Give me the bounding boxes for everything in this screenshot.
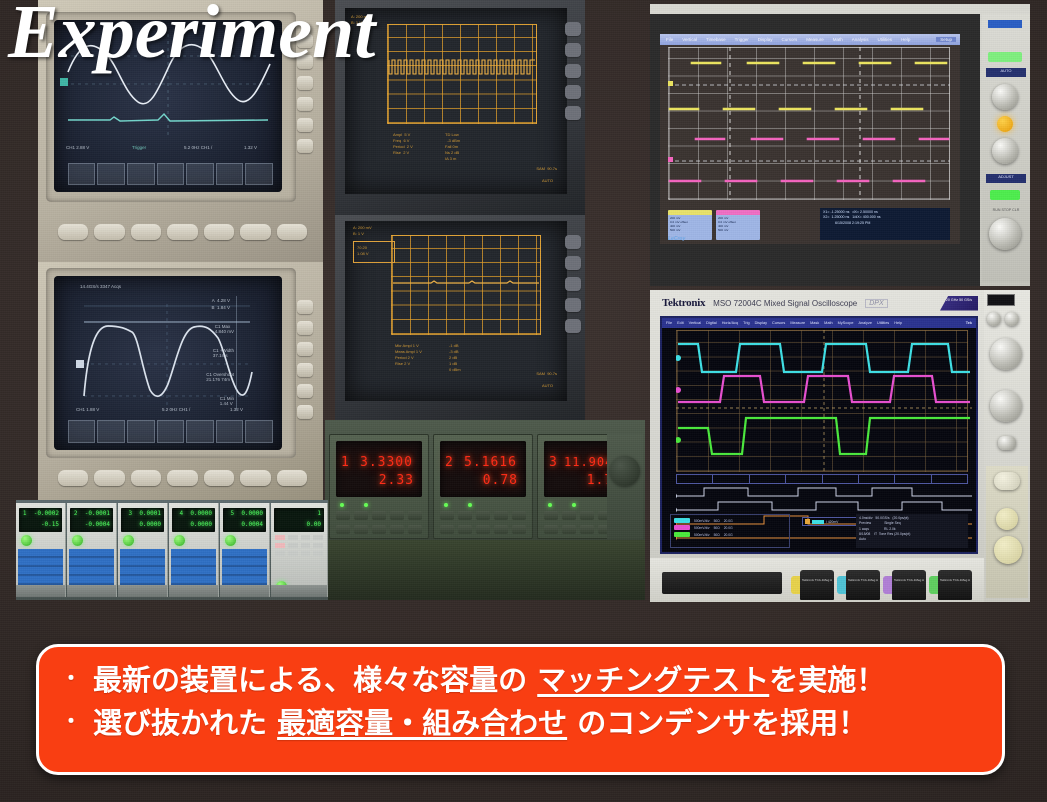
led-display: 3 0.0001 0.0000 [121, 508, 164, 532]
trigger-indicator: / 420mV [802, 517, 862, 526]
rotary-knob[interactable] [123, 535, 134, 546]
psu-line-1: 4 0.0000 [172, 508, 215, 519]
psu-value: 0.0001 [139, 510, 161, 517]
probe-label: Tektronix TCA-1Meg A [894, 578, 924, 582]
scope-side-buttons[interactable] [297, 300, 313, 419]
channel-color-chip [674, 525, 690, 530]
menu-item[interactable]: Mask [810, 321, 819, 325]
probe-color-tab [929, 576, 938, 594]
scope-soft-menu[interactable] [68, 420, 273, 443]
scope-side-menu[interactable] [236, 296, 278, 410]
crt-status-right: SAM 90.7s [536, 371, 557, 377]
menu-item[interactable]: Display [755, 321, 767, 325]
scope-front-panel[interactable] [984, 290, 1030, 602]
menu-item[interactable]: Digital [706, 321, 717, 325]
psu-status-led [468, 503, 472, 507]
psu-line-1: 1 -0.0002 [19, 508, 62, 519]
psu-value: 0.0000 [241, 510, 263, 517]
panel-lower-section[interactable] [986, 466, 1028, 598]
measurement-row: 500mV/div 50Ω 20.0G [674, 532, 786, 537]
menu-item[interactable]: Measure [806, 37, 824, 42]
menu-item[interactable]: Display [758, 37, 773, 42]
digital-bus-row [676, 474, 968, 484]
menu-item[interactable]: Trig [743, 321, 749, 325]
psu-voltage: 5.1616 [464, 455, 517, 470]
psu-terminal-strip[interactable] [67, 585, 116, 597]
psu-channel: 3 [549, 455, 558, 470]
multipurpose-knob-a[interactable] [996, 508, 1018, 530]
multipurpose-knob-b[interactable] [994, 536, 1022, 564]
scope-menubar[interactable]: File Edit Vertical Digital Horiz/Acq Tri… [662, 318, 976, 328]
psu-channel: 2 [74, 510, 78, 517]
measurement-extra: 20.0G [724, 526, 733, 530]
brand-logo: Tektronix [662, 297, 705, 309]
model-label: MSO 72004C Mixed Signal Oscilloscope [713, 299, 857, 308]
menu-item[interactable]: Utilities [878, 37, 893, 42]
measurement-value: 50Ω [714, 533, 720, 537]
psu-status-led [548, 503, 552, 507]
crt-status-right: SAM 90.7s [536, 166, 557, 172]
psu-channel: 5 [230, 510, 234, 517]
bullet-icon: ・ [61, 711, 81, 731]
rotary-knob[interactable] [610, 456, 640, 486]
trigger-level-text: / 420mV [826, 520, 838, 524]
psu-status-led [444, 503, 448, 507]
psu-lower-chassis [325, 540, 645, 600]
caption-line-1: ・ 最新の装置による、様々な容量の マッチングテストを実施！ [61, 659, 980, 702]
menu-item[interactable]: Help [901, 37, 910, 42]
psu-module[interactable]: 3 0.0001 0.0000 [118, 503, 168, 597]
scope-readout-left: CH1 2.88 V [66, 145, 89, 150]
menu-item[interactable]: Analyze [858, 321, 872, 325]
menu-item[interactable]: Help [894, 321, 902, 325]
crt-stats-right: TD Low -3 dBm Fall 0m Ns 2 dB IA 3 m [445, 132, 460, 162]
scope-soft-buttons[interactable] [58, 470, 307, 486]
rotary-knob[interactable] [992, 138, 1018, 164]
probe-label: Tektronix TCA-1Meg A [940, 578, 970, 582]
waveform-trace [391, 235, 541, 335]
channel-badge-2[interactable]: 200 mV 0.0 mV offset 400 mV 500 mV [716, 210, 760, 240]
autoset-button[interactable] [998, 436, 1016, 450]
scope-front-panel[interactable]: AUTO ADJUST RUN STOP CLR [982, 14, 1030, 282]
probe-color-tab [837, 576, 846, 594]
psu-status-led [364, 503, 368, 507]
slide-root: Experiment CH1 2.88 V Trigger 5.2 0Hz CH… [0, 0, 1047, 802]
psu-value: 0.0000 [190, 510, 212, 517]
panel-lcd [987, 294, 1015, 306]
psu-module[interactable]: 1 -0.0002 -0.15 [16, 503, 66, 597]
psu-button-row[interactable] [336, 525, 422, 534]
psu-line-2: -0.0004 [70, 519, 113, 530]
menu-item[interactable]: Cursors [781, 37, 797, 42]
photo-tektronix-oscilloscope: Tektronix MSO 72004C Mixed Signal Oscill… [650, 290, 1030, 602]
scope-screen: File Edit Vertical Digital Horiz/Acq Tri… [660, 316, 978, 554]
crt-screen: 14.4GS/s 3347 Acqs A 4.28 V B 1.84 V C1 … [54, 276, 282, 450]
scope-header: 14.4GS/s 3347 Acqs [80, 284, 121, 289]
psu-current: 0.78 [483, 473, 518, 488]
psu-channel: 4 [179, 510, 183, 517]
psu-terminal-strip[interactable] [118, 585, 167, 597]
tek-menu-logo[interactable]: Tek [966, 321, 972, 325]
psu-button-row[interactable] [336, 511, 422, 520]
led-display: 2 -0.0001 -0.0004 [70, 508, 113, 532]
psu-channel: 1 [23, 510, 27, 517]
scope-readout-trigger: Trigger [132, 145, 146, 150]
psu-unit[interactable]: 1 3.3300 2.33 [329, 434, 429, 539]
psu-status-led [572, 503, 576, 507]
crt-info-box: 70.20 1.08 V [353, 241, 395, 263]
led-display: 4 0.0000 0.0000 [172, 508, 215, 532]
cursor-readout: X1= -1.25000 ns dX= 2.50000 ns X2= 1.250… [820, 208, 950, 240]
psu-channel: 1 [317, 510, 321, 517]
trigger-led-button[interactable] [997, 116, 1013, 132]
measurement-value: 50Ω [714, 526, 720, 530]
menu-item[interactable]: Vertical [689, 321, 701, 325]
psu-module[interactable]: 4 0.0000 0.0000 [169, 503, 219, 597]
scope-soft-buttons[interactable] [58, 224, 307, 240]
photo-amber-crt-flat-trace: 70.20 1.08 V A: 200 mV B: 1 V Mkr Ampl 1… [335, 215, 585, 425]
channel-badge-text: 200 mV 0.0 mV offset 400 mV 500 mV [668, 215, 712, 233]
probe-label: Tektronix TCA-1Meg A [802, 578, 832, 582]
crt-stats-right: -1 dB -3 dB 2 dB 1 dB 0 dBm [449, 343, 461, 373]
menu-item[interactable]: Timebase [706, 37, 726, 42]
psu-keypad[interactable] [275, 535, 323, 579]
analog-waveform-traces [676, 330, 972, 472]
probe-2[interactable]: Tektronix TCA-1Meg A [846, 570, 880, 600]
caption-pre: 選び抜かれた [93, 706, 277, 740]
psu-line-2: 0.00 [274, 519, 324, 530]
menu-item[interactable]: MyScope [838, 321, 854, 325]
led-display: 2 5.1616 0.78 [440, 441, 526, 497]
bullet-icon: ・ [61, 668, 81, 688]
caption-box: ・ 最新の装置による、様々な容量の マッチングテストを実施！ ・ 選び抜かれた … [36, 644, 1005, 775]
scope-cursor-b: B 1.84 V [211, 305, 230, 310]
psu-terminal-strip[interactable] [169, 585, 218, 597]
led-display: 5 0.0000 0.0004 [223, 508, 266, 532]
measurement-extra: 20.0G [724, 533, 733, 537]
brand-logo: LeCroy [668, 236, 685, 242]
multipurpose-knob[interactable] [989, 218, 1021, 250]
psu-value: -0.0002 [34, 510, 59, 517]
photo-modular-power-supply-green-led: 1 -0.0002 -0.15 2 -0.0001 -0.0004 3 0.00… [16, 500, 328, 600]
probe-4[interactable]: Tektronix TCA-1Meg A [938, 570, 972, 600]
acquisition-status: 4.0ns/div 50.0GS/s (20.0ps/pt) Preview S… [856, 514, 968, 548]
menu-item[interactable]: Utilities [877, 321, 889, 325]
caption-line-2-text: 選び抜かれた 最適容量・組み合わせ のコンデンサを採用！ [93, 702, 867, 745]
psu-vent-panel [222, 549, 267, 585]
photo-dc-power-supply-red-led: 1 3.3300 2.33 2 5.1616 0.78 3 11.9040 [325, 420, 645, 600]
crt-screen: 70.20 1.08 V A: 200 mV B: 1 V Mkr Ampl 1… [345, 221, 567, 401]
caption-emphasis: マッチングテスト [537, 663, 769, 697]
crt-box-text: 70.20 1.08 V [357, 245, 369, 257]
psu-line-2: 0.0000 [121, 519, 164, 530]
caption-line-1-text: 最新の装置による、様々な容量の マッチングテストを実施！ [93, 659, 885, 702]
menu-item[interactable]: Measure [790, 321, 805, 325]
vertical-scale-knob[interactable] [990, 338, 1022, 370]
spec-banner: 20 GHz 50 GS/s [940, 296, 978, 311]
psu-vent-panel [120, 549, 165, 585]
panel-label-run-stop: RUN STOP CLR [984, 208, 1028, 212]
page-title: Experiment [8, 0, 375, 70]
caption-post: のコンデンサを採用！ [567, 706, 867, 740]
menu-item[interactable]: Math [833, 37, 843, 42]
psu-line-1: 3 0.0001 [121, 508, 164, 519]
rotary-knob[interactable] [992, 84, 1018, 110]
measurement-extra: 20.0G [724, 519, 733, 523]
panel-label-auto: AUTO [986, 68, 1026, 77]
run-stop-button[interactable] [994, 472, 1020, 490]
channel-color-chip [674, 532, 690, 537]
caption-emphasis: 最適容量・組み合わせ [277, 706, 567, 740]
probe-connector-bar [662, 572, 782, 594]
small-knob[interactable] [987, 312, 1001, 326]
psu-vent-panel [69, 549, 114, 585]
measurement-value: 50Ω [714, 519, 720, 523]
menu-setup-button[interactable]: Setup [936, 37, 956, 42]
rotary-knob[interactable] [72, 535, 83, 546]
psu-terminal-strip[interactable] [16, 585, 65, 597]
measurement-label: 500mV/div [694, 533, 710, 537]
psu-button-row[interactable] [440, 511, 526, 520]
crt-side-buttons[interactable] [565, 22, 581, 120]
menu-item[interactable]: File [666, 321, 672, 325]
probe-1[interactable]: Tektronix TCA-1Meg A [800, 570, 834, 600]
measurement-panel: 500mV/div 50Ω 20.0G 500mV/div 50Ω 20.0G … [670, 514, 790, 548]
crt-status-mode: AUTO [542, 178, 553, 184]
scope-soft-menu[interactable] [68, 163, 273, 185]
probe-label: Tektronix TCA-1Meg A [848, 578, 878, 582]
probe-color-tab [883, 576, 892, 594]
psu-line-2: 0.0000 [172, 519, 215, 530]
scope-footer-mid: 5.2 0Hz CH1 / [162, 407, 190, 412]
scope-measurement-2: C1 +Width 37.1n s [213, 348, 234, 358]
scope-readout-time: 5.2 0Hz CH1 / [184, 145, 212, 150]
psu-button-row[interactable] [440, 525, 526, 534]
caption-line-2: ・ 選び抜かれた 最適容量・組み合わせ のコンデンサを採用！ [61, 702, 980, 745]
menu-item[interactable]: Analysis [852, 37, 869, 42]
horizontal-scale-knob[interactable] [990, 390, 1022, 422]
led-display: 1 -0.0002 -0.15 [19, 508, 62, 532]
psu-vent-panel [171, 549, 216, 585]
rotary-knob[interactable] [225, 535, 236, 546]
measurement-row: 500mV/div 50Ω 20.0G [674, 525, 786, 530]
scope-menubar[interactable]: File Vertical Timebase Trigger Display C… [660, 34, 960, 45]
scope-screen: File Vertical Timebase Trigger Display C… [660, 34, 960, 244]
psu-line-2: -0.15 [19, 519, 62, 530]
menu-item[interactable]: Math [824, 321, 832, 325]
scope-measurement-3: C1 Overshoot 21.176 74m [206, 372, 234, 382]
waveform-traces [668, 47, 950, 200]
panel-status-led [988, 52, 1022, 62]
crt-side-buttons[interactable] [565, 235, 581, 333]
psu-terminal-strip[interactable] [271, 585, 327, 597]
menu-item[interactable]: Cursors [772, 321, 785, 325]
channel-badge-text: 200 mV 0.0 mV offset 400 mV 500 mV [716, 215, 760, 233]
measurement-row: 500mV/div 50Ω 20.0G [674, 518, 786, 523]
led-display: 1 3.3300 2.33 [336, 441, 422, 497]
psu-controller-module[interactable]: 1 0.00 [271, 503, 328, 597]
scope-readout-right: 1.32 V [244, 145, 257, 150]
scope-header: Tektronix MSO 72004C Mixed Signal Oscill… [654, 293, 984, 313]
measurement-label: 500mV/div [694, 526, 710, 530]
psu-module[interactable]: 2 -0.0001 -0.0004 [67, 503, 117, 597]
psu-vent-panel [18, 549, 63, 585]
small-knob[interactable] [1005, 312, 1019, 326]
rotary-knob[interactable] [174, 535, 185, 546]
probe-3[interactable]: Tektronix TCA-1Meg A [892, 570, 926, 600]
psu-control-panel[interactable] [607, 434, 643, 539]
menu-item[interactable]: Trigger [735, 37, 749, 42]
crt-corner-text: A: 200 mV B: 1 V [353, 225, 372, 237]
scope-measurement-1: C1 Max 4.840 mV [215, 324, 234, 334]
psu-channel: 1 [341, 455, 350, 470]
rotary-knob[interactable] [21, 535, 32, 546]
scope-measurement-4: C1 Min 1.44 V [220, 396, 234, 406]
crt-stats-left: Mkr Ampl 1 V Meas Ampl 1 V Period 2 V Ri… [395, 343, 422, 367]
photo-bench-oscilloscope-square: 14.4GS/s 3347 Acqs A 4.28 V B 1.84 V C1 … [38, 262, 323, 500]
menu-item[interactable]: Vertical [682, 37, 697, 42]
scope-chassis: File Vertical Timebase Trigger Display C… [650, 14, 980, 286]
caption-post: を実施！ [769, 663, 885, 697]
psu-line-1: 5 0.0000 [223, 508, 266, 519]
probe-color-tab [791, 576, 800, 594]
psu-line-1: 1 [274, 508, 324, 519]
waveform-trace [387, 24, 537, 124]
scope-probe-bay: Tektronix TCA-1Meg A Tektronix TCA-1Meg … [650, 558, 984, 602]
psu-unit[interactable]: 2 5.1616 0.78 [433, 434, 533, 539]
measurement-label: 500mV/div [694, 519, 710, 523]
psu-terminal-strip[interactable] [220, 585, 269, 597]
panel-indicator-bar [988, 20, 1022, 28]
menu-item[interactable]: Edit [677, 321, 684, 325]
psu-status-led [340, 503, 344, 507]
menu-item[interactable]: File [666, 37, 673, 42]
psu-current: 2.33 [379, 473, 414, 488]
dpx-badge: DPX [865, 299, 887, 308]
crt-stats-left: Ampl 5 V Freq 6 V Period 2 V Rise 2 V [393, 132, 413, 156]
menu-item[interactable]: Horiz/Acq [722, 321, 738, 325]
scope-footer-left: CH1 1.88 V [76, 407, 99, 412]
crt-screen: A: 200 mV B: 1 V Ampl 5 V Freq 6 V Perio… [345, 8, 567, 194]
psu-module[interactable]: 5 0.0000 0.0004 [220, 503, 270, 597]
led-display: 1 0.00 [274, 508, 324, 532]
psu-value: -0.0001 [85, 510, 110, 517]
crt-status-mode: AUTO [542, 383, 553, 389]
panel-run-led [990, 190, 1020, 200]
channel-color-chip [674, 518, 690, 523]
psu-channel: 2 [445, 455, 454, 470]
caption-pre: 最新の装置による、様々な容量の [93, 663, 537, 697]
panel-label-adjust: ADJUST [986, 174, 1026, 183]
psu-line-2: 0.0004 [223, 519, 266, 530]
psu-channel: 3 [128, 510, 132, 517]
scope-cursor-a: A 4.28 V [212, 298, 230, 303]
psu-line-1: 2 -0.0001 [70, 508, 113, 519]
psu-voltage: 3.3300 [360, 455, 413, 470]
photo-lecroy-oscilloscope: File Vertical Timebase Trigger Display C… [650, 4, 1030, 286]
